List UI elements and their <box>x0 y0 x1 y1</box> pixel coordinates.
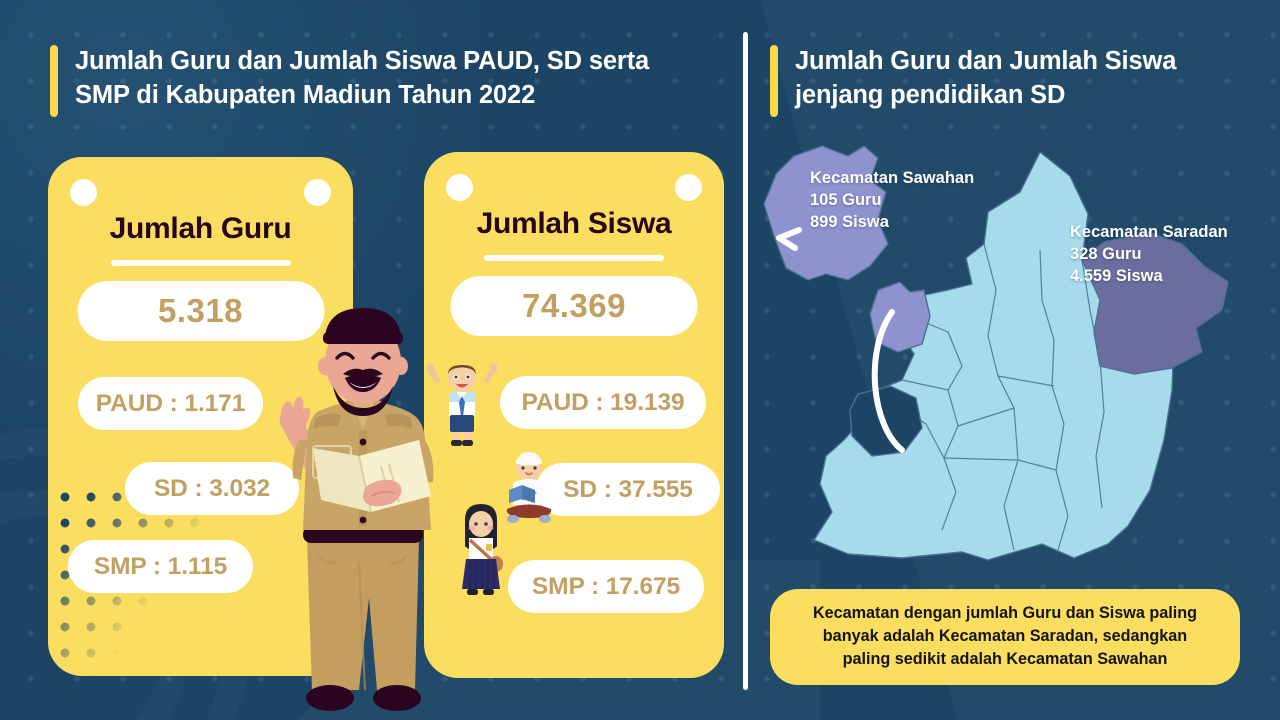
card-title-underline <box>111 260 291 266</box>
stat-pill-siswa-smp: SMP : 17.675 <box>508 560 704 613</box>
card-hole-right <box>675 174 702 201</box>
map-container: Kecamatan Sawahan 105 Guru 899 Siswa Kec… <box>752 140 1262 570</box>
card-hole-left <box>446 174 473 201</box>
left-panel-title: Jumlah Guru dan Jumlah Siswa PAUD, SD se… <box>75 45 649 112</box>
map-callout-sawahan: Kecamatan Sawahan 105 Guru 899 Siswa <box>810 168 974 234</box>
stat-pill-siswa-paud: PAUD : 19.139 <box>500 376 706 429</box>
stat-pill-siswa-sd: SD : 37.555 <box>536 463 720 516</box>
panel-divider <box>743 32 748 690</box>
header-accent-bar <box>50 45 58 117</box>
card-hole-left <box>70 179 97 206</box>
card-hole-right <box>304 179 331 206</box>
card-title: Jumlah Siswa <box>424 207 724 241</box>
right-panel-header: Jumlah Guru dan Jumlah Siswa jenjang pen… <box>770 45 1240 117</box>
stat-pill-guru-smp: SMP : 1.115 <box>68 540 253 593</box>
map-summary-caption: Kecamatan dengan jumlah Guru dan Siswa p… <box>770 589 1240 685</box>
card-total-value: 74.369 <box>451 276 698 336</box>
teacher-illustration <box>255 300 470 720</box>
map-callout-saradan: Kecamatan Saradan 328 Guru 4.559 Siswa <box>1070 222 1228 288</box>
card-title: Jumlah Guru <box>48 212 353 246</box>
right-panel-title: Jumlah Guru dan Jumlah Siswa jenjang pen… <box>795 45 1176 112</box>
stat-pill-guru-paud: PAUD : 1.171 <box>78 377 263 430</box>
header-accent-bar <box>770 45 778 117</box>
card-title-underline <box>484 255 664 261</box>
left-panel-header: Jumlah Guru dan Jumlah Siswa PAUD, SD se… <box>50 45 710 117</box>
